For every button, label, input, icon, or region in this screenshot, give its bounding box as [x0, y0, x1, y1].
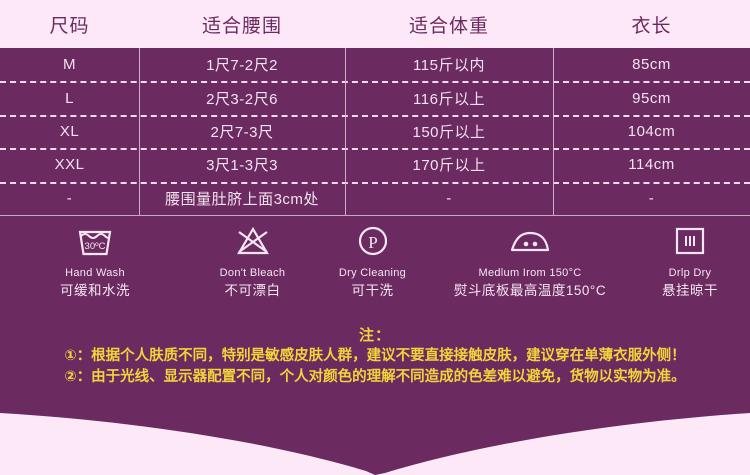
care-item-dry-cleaning: P Dry Cleaning 可干洗: [315, 223, 430, 300]
cell-length: 104cm: [553, 123, 750, 140]
cell-weight: 115斤以内: [345, 54, 553, 75]
table-row-note: - 腰围量肚脐上面3cm处 - -: [0, 182, 750, 215]
care-item-no-bleach: Don't Bleach 不可漂白: [190, 223, 315, 300]
cell-length: -: [553, 190, 750, 207]
column-header-waist: 适合腰围: [139, 11, 345, 38]
table-bottom-border: [0, 215, 750, 216]
care-label-cn: 可干洗: [315, 281, 430, 300]
cell-waist: 2尺3-2尺6: [139, 88, 345, 109]
svg-text:P: P: [368, 233, 377, 252]
column-divider: [553, 48, 554, 215]
care-item-iron: Medlum Irom 150°C 熨斗底板最高温度150°C: [430, 223, 630, 300]
size-table-header: 尺码 适合腰围 适合体重 衣长: [0, 0, 750, 48]
care-label-en: Dry Cleaning: [315, 266, 430, 281]
dry-clean-p-icon: P: [315, 223, 430, 259]
care-label-cn: 可缓和水洗: [0, 281, 190, 300]
cell-weight: 116斤以上: [345, 88, 553, 109]
notes-block: 注： ①：根据个人肤质不同，特别是敏感皮肤人群，建议不要直接接触皮肤，建议穿在单…: [0, 326, 750, 388]
care-label-cn: 熨斗底板最高温度150°C: [430, 281, 630, 300]
column-divider: [345, 48, 346, 215]
cell-weight: -: [345, 190, 553, 207]
svg-text:30ºC: 30ºC: [85, 241, 106, 252]
care-label-en: Hand Wash: [0, 266, 190, 281]
table-row: L 2尺3-2尺6 116斤以上 95cm: [0, 81, 750, 114]
no-bleach-icon: [190, 223, 315, 259]
care-instructions: 30ºC Hand Wash 可缓和水洗 Don't Bleach 不可漂白: [0, 223, 750, 318]
purple-panel: M 1尺7-2尺2 115斤以内 85cm L 2尺3-2尺6 116斤以上 9…: [0, 48, 750, 413]
bottom-curve-decoration: [0, 405, 750, 475]
cell-size: L: [0, 90, 139, 107]
column-header-size: 尺码: [0, 11, 139, 38]
care-item-hand-wash: 30ºC Hand Wash 可缓和水洗: [0, 223, 190, 300]
note-line-2: ②：由于光线、显示器配置不同，个人对颜色的理解不同造成的色差难以避免，货物以实物…: [0, 367, 750, 388]
table-row: M 1尺7-2尺2 115斤以内 85cm: [0, 48, 750, 81]
note-line-1: ①：根据个人肤质不同，特别是敏感皮肤人群，建议不要直接接触皮肤，建议穿在单薄衣服…: [0, 346, 750, 367]
row-divider: [0, 115, 750, 117]
care-label-en: Medlum Irom 150°C: [430, 266, 630, 281]
cell-size: -: [0, 190, 139, 207]
cell-weight: 170斤以上: [345, 154, 553, 175]
cell-waist: 3尺1-3尺3: [139, 154, 345, 175]
iron-medium-icon: [430, 223, 630, 259]
size-table: M 1尺7-2尺2 115斤以内 85cm L 2尺3-2尺6 116斤以上 9…: [0, 48, 750, 215]
cell-size: XL: [0, 123, 139, 140]
table-row: XXL 3尺1-3尺3 170斤以上 114cm: [0, 148, 750, 181]
cell-weight: 150斤以上: [345, 121, 553, 142]
care-label-en: Drlp Dry: [630, 266, 750, 281]
care-label-cn: 悬挂晾干: [630, 281, 750, 300]
care-label-cn: 不可漂白: [190, 281, 315, 300]
cell-length: 95cm: [553, 90, 750, 107]
care-item-drip-dry: Drlp Dry 悬挂晾干: [630, 223, 750, 300]
cell-length: 114cm: [553, 156, 750, 173]
table-row: XL 2尺7-3尺 150斤以上 104cm: [0, 115, 750, 148]
drip-dry-icon: [630, 223, 750, 259]
size-chart-page: 尺码 适合腰围 适合体重 衣长 M 1尺7-2尺2 115斤以内 85cm L …: [0, 0, 750, 475]
cell-waist: 1尺7-2尺2: [139, 54, 345, 75]
column-divider: [139, 48, 140, 215]
cell-size: XXL: [0, 156, 139, 173]
cell-length: 85cm: [553, 56, 750, 73]
row-divider: [0, 148, 750, 150]
column-header-weight: 适合体重: [345, 11, 553, 38]
cell-waist: 腰围量肚脐上面3cm处: [139, 188, 345, 209]
cell-waist: 2尺7-3尺: [139, 121, 345, 142]
cell-size: M: [0, 56, 139, 73]
wash-tub-30c-icon: 30ºC: [0, 223, 190, 259]
row-divider: [0, 182, 750, 184]
column-header-length: 衣长: [553, 11, 750, 38]
care-label-en: Don't Bleach: [190, 266, 315, 281]
row-divider: [0, 81, 750, 83]
notes-title: 注：: [0, 326, 750, 346]
